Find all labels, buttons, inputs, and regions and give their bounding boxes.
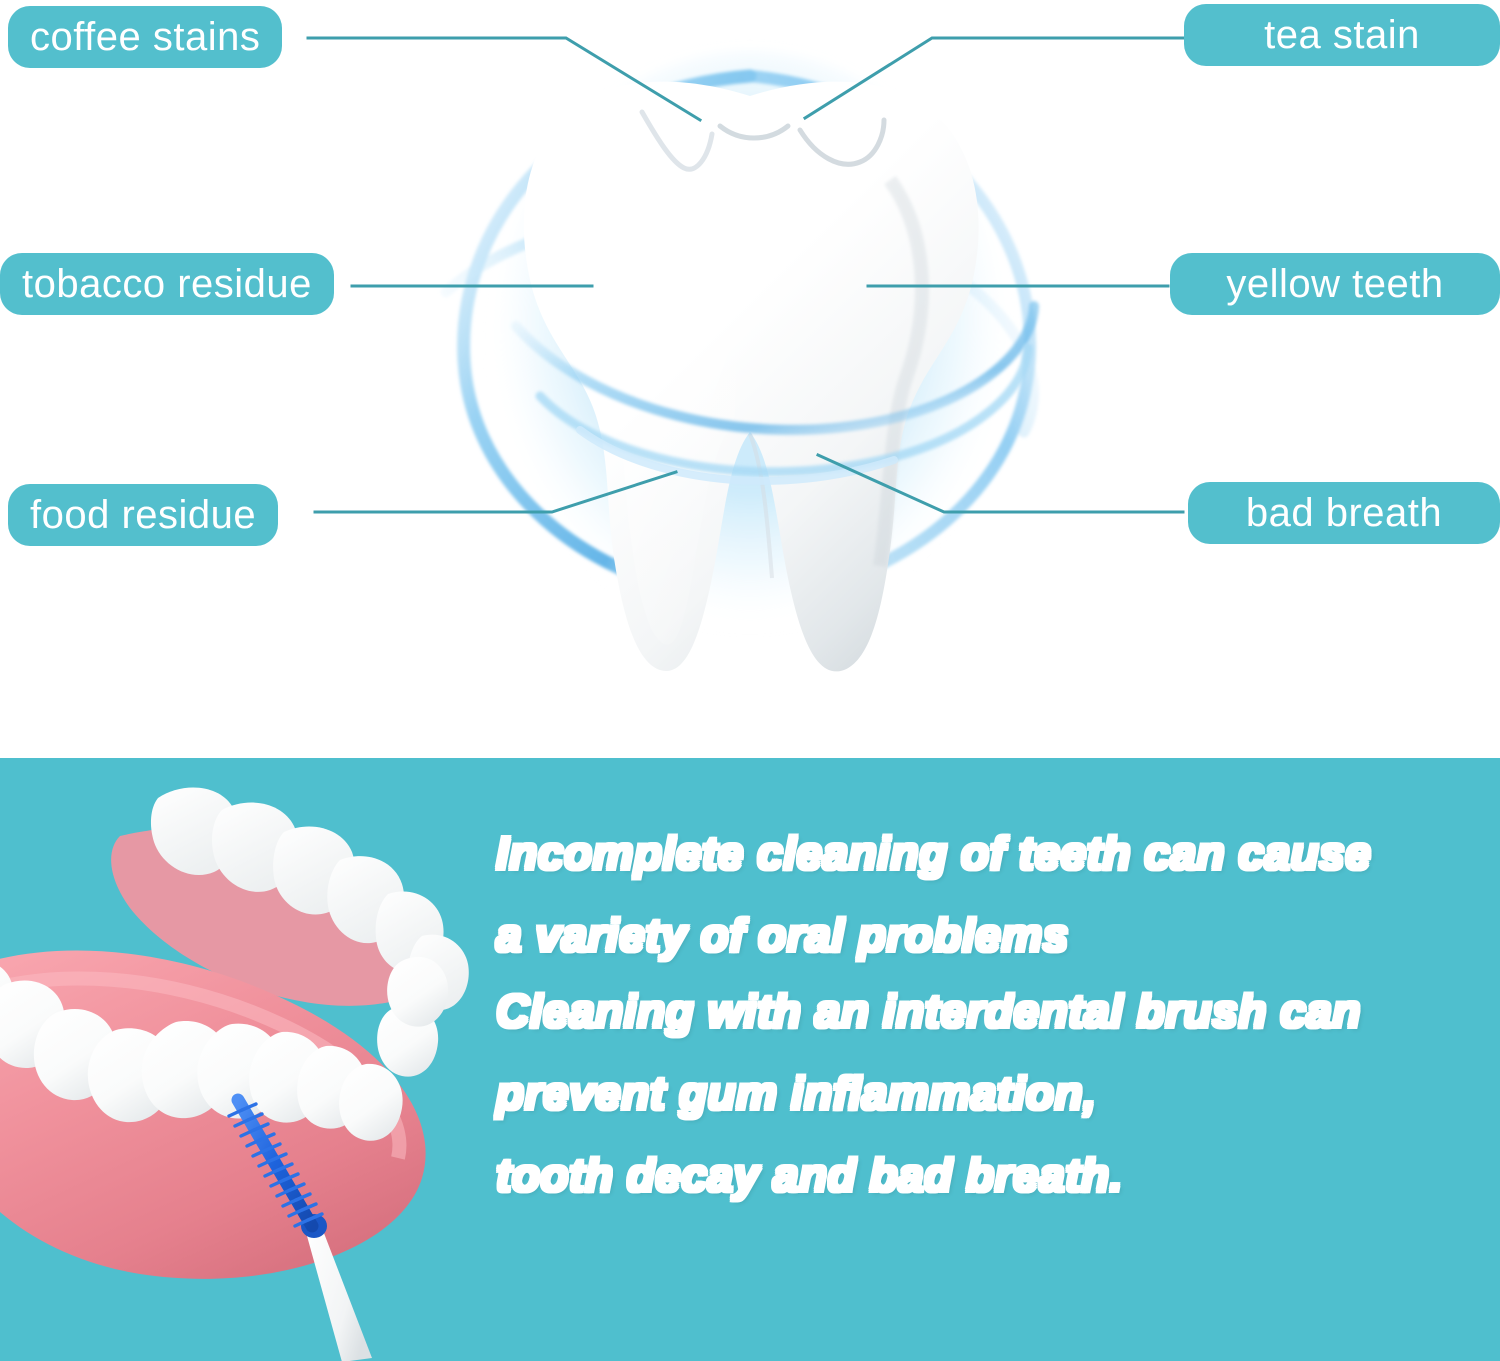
label-tea-stain-text: tea stain bbox=[1264, 15, 1420, 55]
infographic-page: coffee stains tea stain tobacco residue … bbox=[0, 0, 1500, 1361]
caption-line-5: tooth decay and bad breath. bbox=[496, 1152, 1476, 1198]
dental-model-svg bbox=[0, 758, 500, 1361]
benefit-caption: Incomplete cleaning of teeth can cause a… bbox=[496, 830, 1476, 1234]
molar-tooth-illustration bbox=[420, 30, 1080, 710]
label-tea-stain[interactable]: tea stain bbox=[1184, 4, 1500, 66]
label-bad-breath-text: bad breath bbox=[1246, 493, 1442, 533]
label-yellow-teeth[interactable]: yellow teeth bbox=[1170, 253, 1500, 315]
label-coffee-stains[interactable]: coffee stains bbox=[8, 6, 282, 68]
label-food-residue[interactable]: food residue bbox=[8, 484, 278, 546]
tooth-svg bbox=[420, 30, 1080, 710]
dental-model-photo bbox=[0, 758, 500, 1361]
label-yellow-teeth-text: yellow teeth bbox=[1226, 264, 1443, 304]
label-bad-breath[interactable]: bad breath bbox=[1188, 482, 1500, 544]
caption-line-3: Cleaning with an interdental brush can bbox=[496, 988, 1476, 1034]
caption-line-4: prevent gum inflammation, bbox=[496, 1070, 1476, 1116]
tooth-problems-panel: coffee stains tea stain tobacco residue … bbox=[0, 0, 1500, 758]
label-food-residue-text: food residue bbox=[30, 495, 256, 535]
caption-line-2: a variety of oral problems bbox=[496, 912, 1476, 958]
label-tobacco-residue[interactable]: tobacco residue bbox=[0, 253, 334, 315]
caption-line-1: Incomplete cleaning of teeth can cause bbox=[496, 830, 1476, 876]
interdental-brush-benefit-panel: Incomplete cleaning of teeth can cause a… bbox=[0, 758, 1500, 1361]
label-tobacco-residue-text: tobacco residue bbox=[22, 264, 312, 304]
label-coffee-stains-text: coffee stains bbox=[30, 17, 260, 57]
